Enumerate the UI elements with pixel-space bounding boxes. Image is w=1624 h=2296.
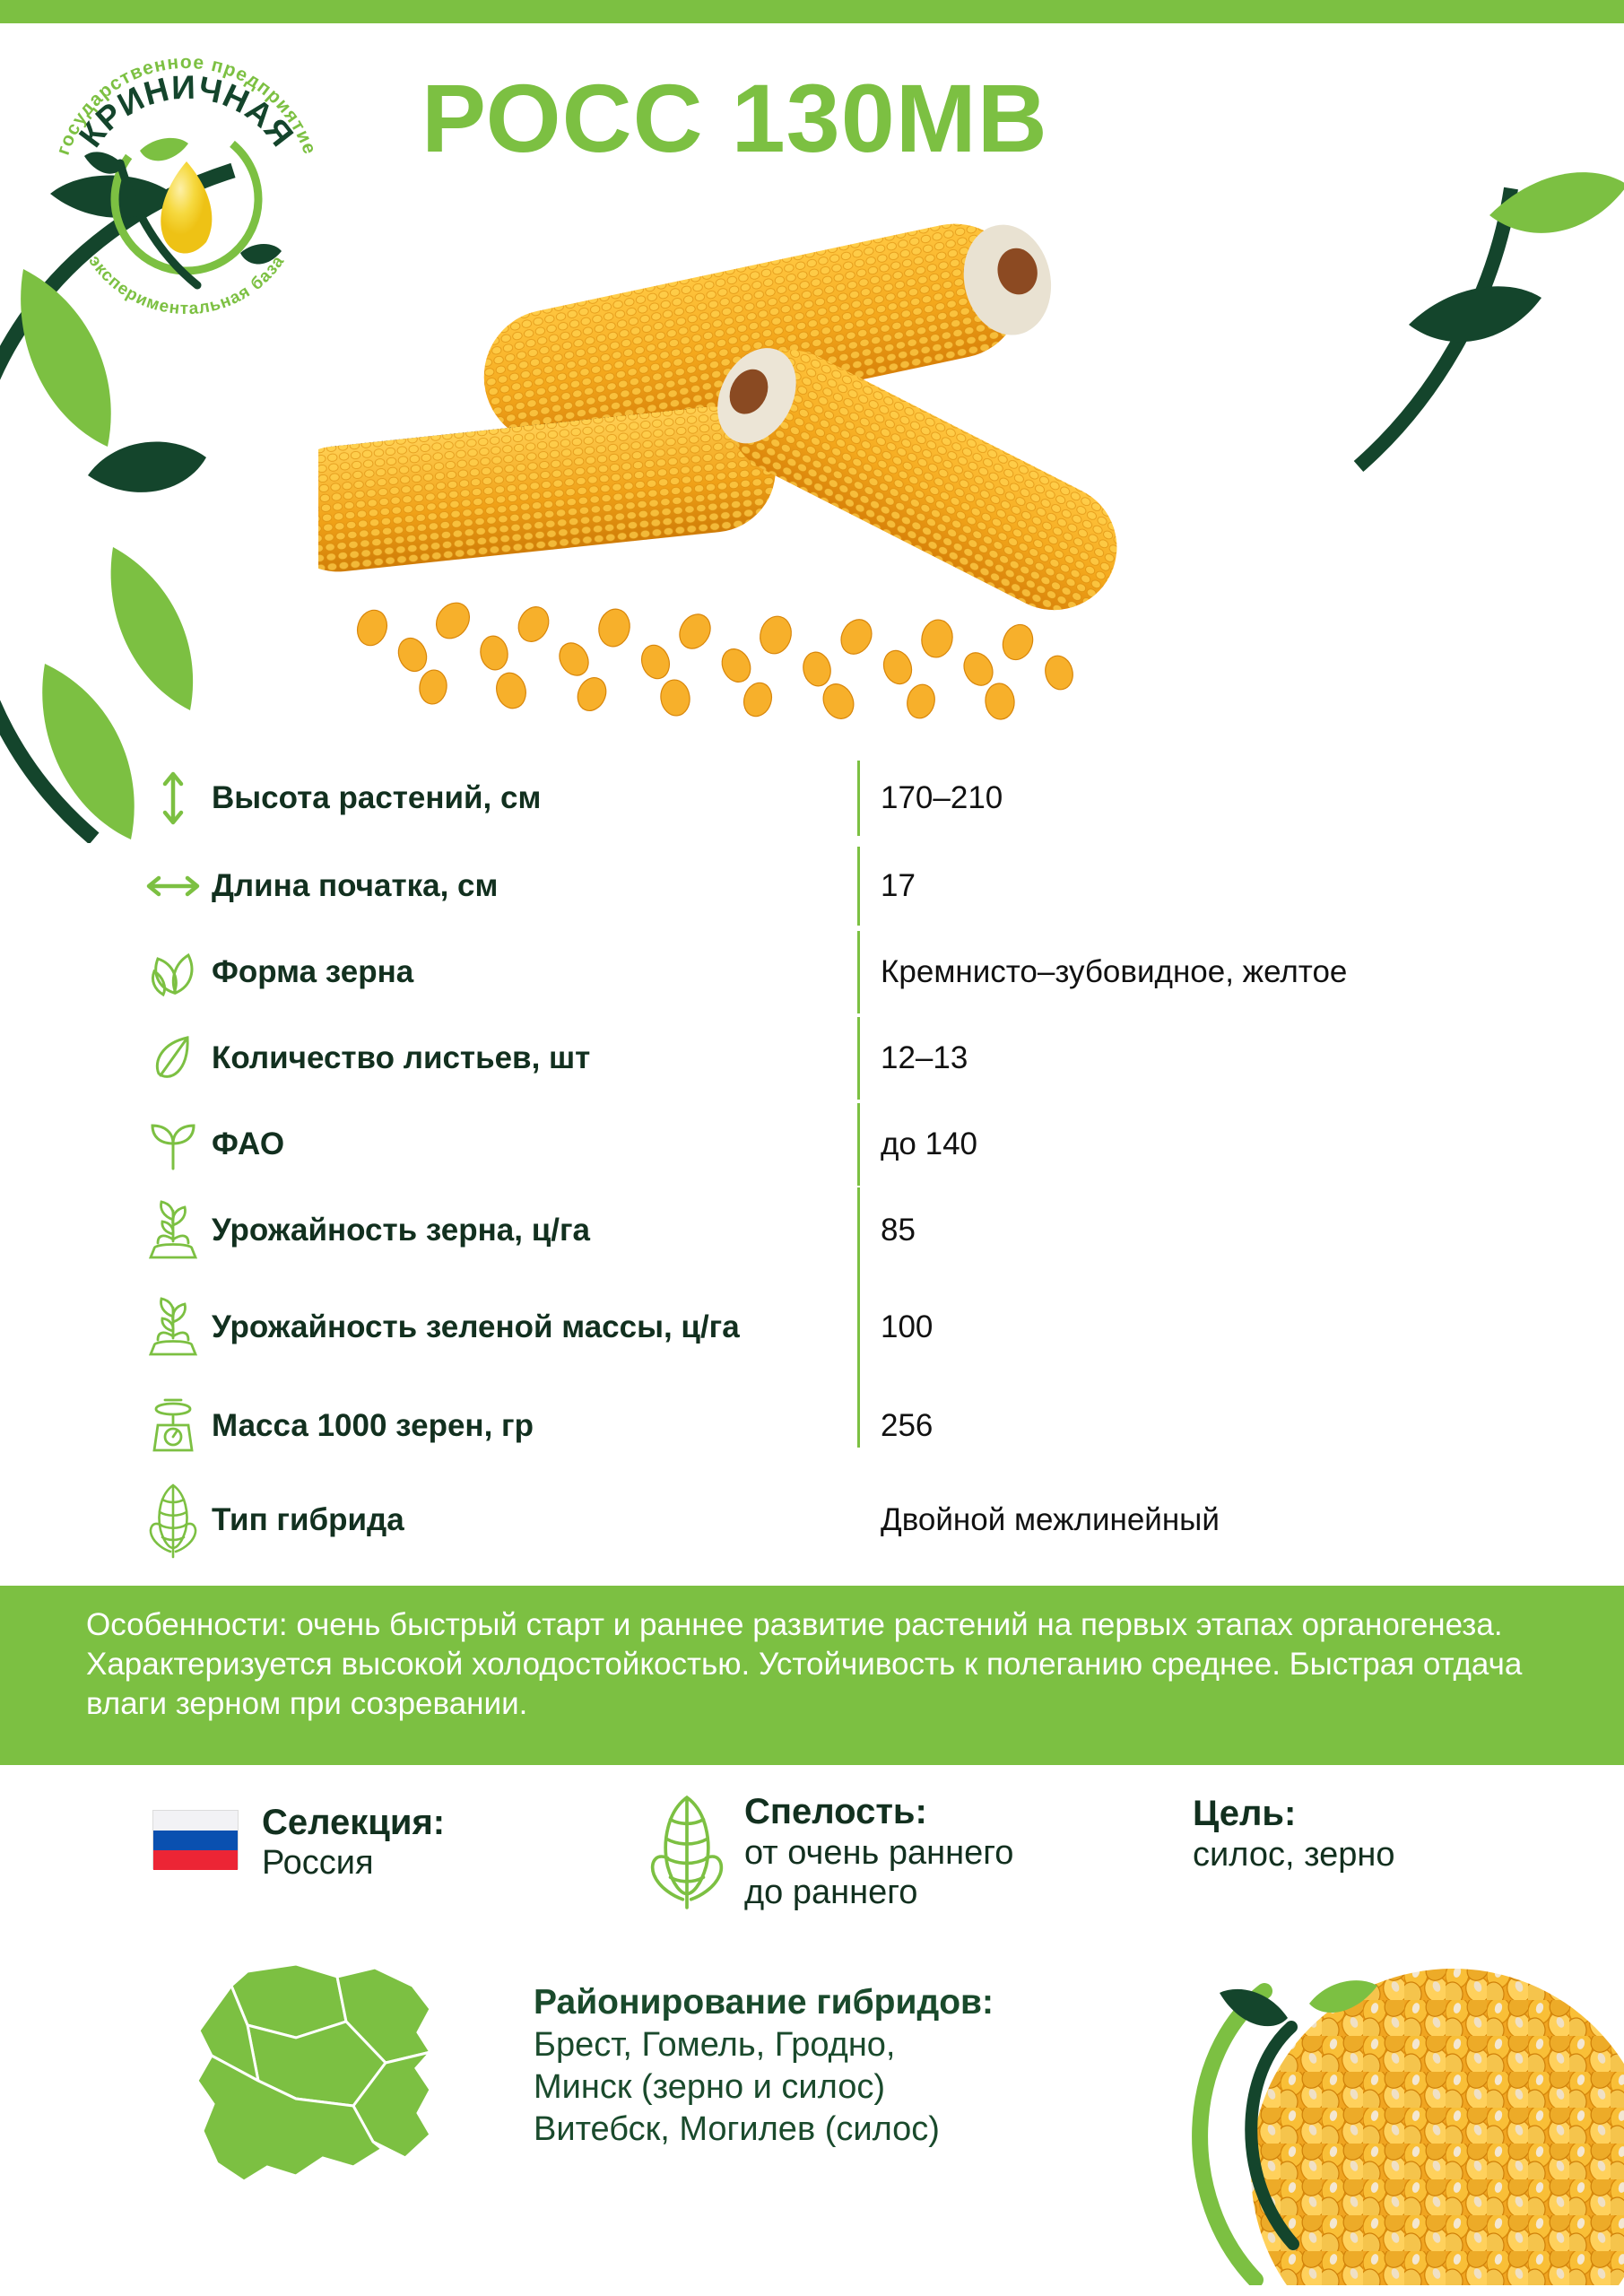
- spec-label: Длина початка, см: [212, 868, 857, 903]
- grain-leaves-icon: [135, 944, 212, 1000]
- seedling-tray-icon: [135, 1295, 212, 1360]
- row-separator: [857, 1274, 860, 1381]
- ripeness-value-line1: от очень раннего: [744, 1833, 1013, 1873]
- spec-label: Тип гибрида: [212, 1502, 857, 1537]
- belarus-map: [161, 1955, 511, 2260]
- russia-flag-icon: [152, 1810, 239, 1869]
- row-separator: [857, 1103, 860, 1186]
- spec-value: 85: [857, 1213, 1507, 1248]
- spec-value: 100: [857, 1309, 1507, 1345]
- spec-label: ФАО: [212, 1126, 857, 1161]
- ripeness-value-line2: до раннего: [744, 1873, 1013, 1912]
- right-swirl-decoration: [1323, 135, 1624, 475]
- row-separator: [857, 847, 860, 926]
- features-banner: Особенности: очень быстрый старт и ранне…: [0, 1586, 1624, 1765]
- table-row: Тип гибрида Двойной межлинейный: [135, 1471, 1507, 1570]
- regions-block: Районирование гибридов: Брест, Гомель, Г…: [534, 1982, 1215, 2151]
- spec-label: Форма зерна: [212, 954, 857, 989]
- corn-cob-icon: [646, 1792, 728, 1915]
- height-arrow-icon: [135, 769, 212, 828]
- spec-value: 170–210: [857, 780, 1507, 816]
- spec-label: Урожайность зеленой массы, ц/га: [212, 1309, 857, 1344]
- spec-value: 256: [857, 1408, 1507, 1444]
- spec-label: Количество листьев, шт: [212, 1040, 857, 1075]
- specification-table: Высота растений, см 170–210 Длина початк…: [135, 753, 1507, 1570]
- spec-value: Кремнисто–зубовидное, желтое: [857, 954, 1507, 990]
- regions-line-1: Брест, Гомель, Гродно,: [534, 2024, 1215, 2066]
- table-row: Высота растений, см 170–210: [135, 753, 1507, 843]
- table-row: Форма зерна Кремнисто–зубовидное, желтое: [135, 929, 1507, 1015]
- goal-label: Цель:: [1193, 1794, 1394, 1835]
- ripeness-block: Спелость: от очень раннего до раннего: [646, 1792, 1013, 1915]
- seedling-tray-icon: [135, 1198, 212, 1263]
- kernels-photo: [1157, 1964, 1624, 2296]
- regions-line-2: Минск (зерно и силос): [534, 2066, 1215, 2109]
- regions-label: Районирование гибридов:: [534, 1982, 1215, 2024]
- row-separator: [857, 761, 860, 836]
- bottom-bar: [0, 2285, 1624, 2296]
- spec-value: до 140: [857, 1126, 1507, 1162]
- table-row: Урожайность зерна, ц/га 85: [135, 1187, 1507, 1274]
- ripeness-label: Спелость:: [744, 1792, 1013, 1833]
- goal-block: Цель: силос, зерно: [1193, 1794, 1394, 1874]
- leaf-icon: [135, 1031, 212, 1086]
- spec-label: Урожайность зерна, ц/га: [212, 1213, 857, 1248]
- width-arrow-icon: [135, 868, 212, 904]
- corn-hero-image: [318, 206, 1314, 753]
- spec-value: Двойной межлинейный: [857, 1502, 1507, 1538]
- table-row: Урожайность зеленой массы, ц/га 100: [135, 1274, 1507, 1381]
- infographic-page: государственное предприятие КРИНИЧНАЯ эк…: [0, 0, 1624, 2296]
- row-separator: [857, 931, 860, 1013]
- sprout-icon: [135, 1117, 212, 1172]
- goal-value: силос, зерно: [1193, 1835, 1394, 1874]
- spec-value: 12–13: [857, 1040, 1507, 1076]
- table-row: Масса 1000 зерен, гр 256: [135, 1381, 1507, 1471]
- spec-value: 17: [857, 868, 1507, 904]
- company-logo: государственное предприятие КРИНИЧНАЯ эк…: [34, 29, 339, 334]
- corn-cob-icon: [135, 1482, 212, 1559]
- spec-label: Масса 1000 зерен, гр: [212, 1408, 857, 1443]
- regions-line-3: Витебск, Могилев (силос): [534, 2109, 1215, 2151]
- selection-label: Селекция:: [262, 1803, 445, 1844]
- row-separator: [857, 1017, 860, 1100]
- table-row: Количество листьев, шт 12–13: [135, 1015, 1507, 1101]
- page-title: РОСС 130МВ: [421, 70, 1048, 167]
- row-separator: [857, 1381, 860, 1448]
- table-row: Длина початка, см 17: [135, 843, 1507, 929]
- spec-label: Высота растений, см: [212, 780, 857, 815]
- table-row: ФАО до 140: [135, 1101, 1507, 1187]
- scale-icon: [135, 1396, 212, 1456]
- selection-block: Селекция: Россия: [152, 1803, 445, 1883]
- selection-value: Россия: [262, 1844, 445, 1883]
- top-green-bar: [0, 0, 1624, 23]
- row-separator: [857, 1187, 860, 1274]
